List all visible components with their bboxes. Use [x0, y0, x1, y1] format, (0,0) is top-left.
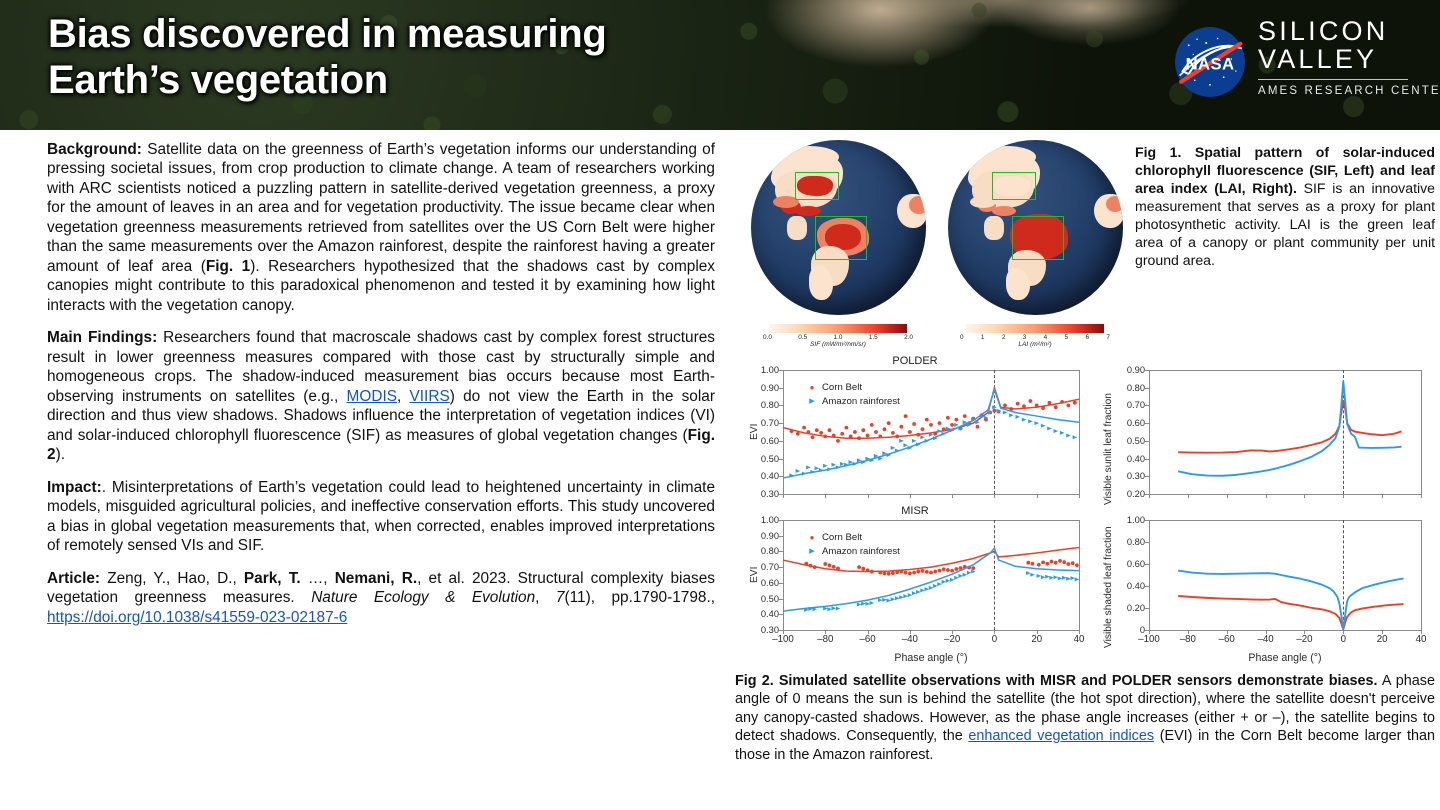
- data-point: [1075, 577, 1080, 581]
- data-point: [866, 568, 870, 572]
- data-point: [813, 565, 817, 569]
- series-line: [1178, 401, 1401, 453]
- data-point: [823, 435, 827, 439]
- x-axis-tick-label: 0: [992, 634, 997, 645]
- legend-label: Corn Belt: [822, 532, 862, 543]
- data-point: [866, 434, 870, 438]
- legend-item: ●Corn Belt: [807, 532, 900, 543]
- tick: 0.0: [763, 334, 772, 341]
- nasa-meatball-icon: NASA: [1172, 24, 1248, 100]
- data-point: [1041, 575, 1046, 579]
- data-point: [790, 429, 794, 433]
- globe-lai-sphere: [948, 140, 1123, 315]
- article-a3: …,: [301, 570, 335, 587]
- background-figref: Fig. 1: [206, 258, 250, 275]
- data-point: [865, 602, 870, 606]
- data-point: [900, 425, 904, 429]
- x-axis-label: Phase angle (°): [783, 652, 1079, 664]
- chart-polder-evi: POLDER1.000.900.800.700.600.500.400.30EV…: [741, 354, 1089, 504]
- data-point: [904, 414, 908, 418]
- data-point: [1067, 404, 1071, 408]
- y-axis-tick-label: 0.60: [761, 578, 779, 588]
- data-point: [1060, 400, 1064, 404]
- x-axis-tick: [952, 494, 953, 498]
- data-point: [925, 570, 929, 574]
- globe-sif: 0.0 0.5 1.0 1.5 2.0 SIF (mW/m²/nm/sr): [743, 140, 933, 350]
- colorbar-sif: 0.0 0.5 1.0 1.5 2.0 SIF (mW/m²/nm/sr): [743, 324, 933, 348]
- data-point: [882, 598, 887, 602]
- data-point: [946, 568, 950, 572]
- data-point: [1016, 415, 1021, 419]
- data-point: [1073, 435, 1078, 439]
- data-point: [912, 422, 916, 426]
- data-point: [929, 586, 934, 590]
- data-point: [963, 573, 968, 577]
- colorbar-sif-ticks: 0.0 0.5 1.0 1.5 2.0: [763, 334, 913, 341]
- data-point: [1037, 563, 1041, 567]
- impact-lead: Impact:: [47, 479, 102, 496]
- data-point: [920, 588, 925, 592]
- paragraph-impact: Impact:. Misinterpretations of Earth’s v…: [47, 478, 715, 556]
- data-point: [827, 607, 832, 611]
- amazon-box-lai: [1012, 216, 1064, 260]
- data-point: [1022, 404, 1026, 408]
- colorbar-sif-gradient: [769, 324, 907, 333]
- findings-sep: ,: [397, 388, 410, 405]
- data-point: [802, 426, 806, 430]
- data-point: [827, 467, 832, 471]
- page-title-line1: Bias discovered in measuring: [48, 12, 808, 58]
- data-point: [857, 565, 861, 569]
- data-point: [946, 579, 951, 583]
- data-point: [1062, 560, 1066, 564]
- data-point: [1037, 574, 1042, 578]
- data-point: [1049, 576, 1054, 580]
- data-point: [900, 570, 904, 574]
- plot-area: 1.000.800.600.400.200–100–80–60–40–20020…: [1149, 520, 1421, 630]
- data-point: [933, 584, 938, 588]
- data-point: [992, 405, 997, 409]
- series-line: [1178, 381, 1401, 475]
- figure-2-charts: POLDER1.000.900.800.700.600.500.400.30EV…: [735, 354, 1435, 674]
- data-point: [1003, 404, 1007, 408]
- tick: 1.5: [869, 334, 878, 341]
- data-point: [891, 597, 896, 601]
- data-point: [802, 472, 807, 476]
- data-point: [993, 409, 997, 413]
- data-point: [887, 421, 891, 425]
- data-point: [1054, 429, 1059, 433]
- colorbar-lai: 0 1 2 3 4 5 6 7 LAI (m²/m²): [940, 324, 1130, 348]
- data-point: [929, 571, 933, 575]
- y-axis-tick-label: 0.30: [761, 489, 779, 499]
- x-axis-tick-label: –60: [1219, 634, 1235, 645]
- data-point: [832, 434, 836, 438]
- y-axis-tick-label: 0.90: [1127, 365, 1145, 375]
- x-axis-tick: [1382, 494, 1383, 498]
- y-axis-tick-label: 0.70: [761, 418, 779, 428]
- data-point: [895, 435, 899, 439]
- data-point: [912, 439, 917, 443]
- y-axis-tick-label: 0.80: [1127, 537, 1145, 547]
- y-axis-tick-label: 0.20: [1127, 489, 1145, 499]
- data-point: [1054, 575, 1059, 579]
- figure-2-caption: Fig 2. Simulated satellite observations …: [735, 672, 1435, 764]
- axis-line: [783, 494, 1079, 495]
- data-point: [828, 563, 832, 567]
- data-point: [942, 580, 947, 584]
- tick: 0.5: [798, 334, 807, 341]
- data-point: [937, 582, 942, 586]
- article-author-park: Park, T.: [244, 570, 301, 587]
- chart-misr-evi: MISR1.000.900.800.700.600.500.400.30–100…: [741, 504, 1089, 674]
- data-point: [916, 433, 920, 437]
- findings-text3: ).: [56, 446, 65, 463]
- data-point: [903, 594, 908, 598]
- data-point: [887, 572, 891, 576]
- data-point: [904, 571, 908, 575]
- figures-column: 0.0 0.5 1.0 1.5 2.0 SIF (mW/m²/nm/sr): [735, 140, 1435, 674]
- y-axis-tick-label: 0.50: [761, 454, 779, 464]
- y-axis-tick-label: 0.70: [1127, 400, 1145, 410]
- data-point: [954, 576, 959, 580]
- data-point: [1066, 434, 1071, 438]
- chart-legend: ●Corn Belt▸Amazon rainforest: [807, 532, 900, 560]
- amazon-box-sif: [815, 216, 867, 260]
- data-point: [796, 432, 800, 436]
- x-axis-tick-label: –100: [772, 634, 794, 645]
- logo-line-2: VALLEY: [1258, 46, 1412, 74]
- data-point: [810, 470, 815, 474]
- legend-item: ▸Amazon rainforest: [807, 396, 900, 407]
- data-point: [908, 430, 912, 434]
- x-axis-tick-label: –80: [817, 634, 833, 645]
- data-point: [933, 570, 937, 574]
- data-point: [1035, 404, 1039, 408]
- chart-title: MISR: [741, 504, 1089, 518]
- data-point: [878, 435, 882, 439]
- data-point: [806, 465, 811, 469]
- data-point: [938, 569, 942, 573]
- data-point: [958, 574, 963, 578]
- link-doi[interactable]: https://doi.org/10.1038/s41559-023-02187…: [47, 609, 347, 626]
- data-point: [1071, 576, 1076, 580]
- data-point: [815, 428, 819, 432]
- legend-marker-icon: ▸: [807, 396, 817, 407]
- data-point: [1030, 573, 1035, 577]
- data-point: [929, 423, 933, 427]
- article-a7: (11), pp.1790-1798.,: [564, 589, 715, 606]
- data-point: [823, 464, 828, 468]
- impact-text: . Misinterpretations of Earth’s vegetati…: [47, 479, 715, 554]
- article-lead: Article:: [47, 570, 100, 587]
- data-point: [836, 465, 841, 469]
- data-point: [804, 562, 808, 566]
- y-axis-label: Visible sunlit leaf fraction: [1103, 393, 1114, 505]
- data-point: [921, 427, 925, 431]
- x-axis-tick-label: 20: [1377, 634, 1388, 645]
- data-point: [853, 430, 857, 434]
- data-point: [971, 570, 976, 574]
- y-axis-tick-label: 0.30: [1127, 471, 1145, 481]
- y-axis-tick-label: 0.60: [761, 436, 779, 446]
- legend-marker-icon: ●: [807, 534, 817, 542]
- axis-line: [1079, 370, 1080, 494]
- legend-label: Amazon rainforest: [822, 546, 900, 557]
- x-axis-tick: [1079, 494, 1080, 498]
- y-axis-tick-label: 0.60: [1127, 418, 1145, 428]
- figure-1: 0.0 0.5 1.0 1.5 2.0 SIF (mW/m²/nm/sr): [735, 140, 1435, 350]
- x-axis-tick: [1421, 494, 1422, 498]
- data-point: [836, 567, 840, 571]
- logo-line-1: SILICON: [1258, 18, 1412, 46]
- data-point: [832, 606, 837, 610]
- data-point: [908, 593, 913, 597]
- data-point: [891, 571, 895, 575]
- legend-label: Corn Belt: [822, 382, 862, 393]
- data-point: [849, 435, 853, 439]
- data-point: [925, 418, 929, 422]
- data-point: [1009, 413, 1014, 417]
- data-point: [823, 562, 827, 566]
- data-point: [912, 571, 916, 575]
- data-point: [1041, 406, 1045, 410]
- y-axis-tick-label: 0.40: [761, 609, 779, 619]
- data-point: [1026, 561, 1030, 565]
- data-point: [807, 430, 811, 434]
- corn-belt-box-lai: [992, 172, 1036, 200]
- data-point: [1058, 577, 1063, 581]
- data-point: [815, 466, 820, 470]
- data-point: [920, 435, 925, 439]
- data-point: [1060, 431, 1065, 435]
- data-point: [840, 432, 844, 436]
- data-point: [1041, 561, 1045, 565]
- series-line: [1178, 596, 1403, 630]
- legend-label: Amazon rainforest: [822, 396, 900, 407]
- data-point: [861, 567, 865, 571]
- poster-page: Bias discovered in measuring Earth’s veg…: [0, 0, 1440, 810]
- axis-line: [1079, 520, 1080, 630]
- chart-shaded-leaf-fraction: 1.000.800.600.400.200–100–80–60–40–20020…: [1091, 504, 1435, 674]
- colorbar-lai-label: LAI (m²/m²): [940, 341, 1130, 348]
- silicon-valley-wordmark: SILICON VALLEY AMES RESEARCH CENTER: [1258, 18, 1412, 97]
- data-point: [950, 423, 954, 427]
- data-point: [955, 418, 959, 422]
- background-text: Satellite data on the greenness of Earth…: [47, 141, 715, 275]
- data-point: [1028, 419, 1033, 423]
- x-axis-tick-label: –40: [1257, 634, 1273, 645]
- data-point: [857, 436, 861, 440]
- data-point: [891, 431, 895, 435]
- data-point: [916, 570, 920, 574]
- data-point: [908, 572, 912, 576]
- colorbar-lai-ticks: 0 1 2 3 4 5 6 7: [960, 334, 1110, 341]
- data-point: [1016, 402, 1020, 406]
- y-axis-tick-label: 0.20: [1127, 603, 1145, 613]
- tick: 0: [960, 334, 964, 341]
- data-point: [832, 565, 836, 569]
- paragraph-article-citation: Article: Zeng, Y., Hao, D., Park, T. …, …: [47, 569, 715, 627]
- data-point: [840, 462, 845, 466]
- tick: 5: [1065, 334, 1069, 341]
- data-point: [954, 423, 959, 427]
- axis-line: [1149, 494, 1421, 495]
- data-point: [1045, 562, 1049, 566]
- data-point: [832, 463, 837, 467]
- legend-item: ●Corn Belt: [807, 382, 900, 393]
- article-a1: Zeng, Y., Hao, D.,: [100, 570, 244, 587]
- logo-subtitle: AMES RESEARCH CENTER: [1258, 85, 1412, 97]
- tick: 2: [1002, 334, 1006, 341]
- data-point: [1026, 571, 1031, 575]
- chart-sunlit-leaf-fraction: 0.900.800.700.600.500.400.300.20Visible …: [1091, 354, 1435, 504]
- data-point: [942, 567, 946, 571]
- data-point: [1054, 405, 1058, 409]
- data-point: [1054, 561, 1058, 565]
- data-point: [950, 578, 955, 582]
- data-point: [1071, 561, 1075, 565]
- x-axis-tick: [1343, 494, 1344, 498]
- data-point: [1073, 401, 1077, 405]
- data-point: [1058, 559, 1062, 563]
- data-point: [887, 599, 892, 603]
- page-title-line2: Earth’s vegetation: [48, 58, 808, 104]
- data-point: [1041, 424, 1046, 428]
- data-point: [1035, 421, 1040, 425]
- data-point: [828, 428, 832, 432]
- axis-line: [783, 630, 1079, 631]
- y-axis-label: Visible shaded leaf fraction: [1103, 526, 1114, 648]
- background-lead: Background:: [47, 141, 142, 158]
- tick: 7: [1106, 334, 1110, 341]
- plot-area: 0.900.800.700.600.500.400.300.20: [1149, 370, 1421, 494]
- y-axis-label: EVI: [749, 423, 760, 439]
- data-point: [967, 571, 972, 575]
- legend-item: ▸Amazon rainforest: [807, 546, 900, 557]
- figure-1-caption: Fig 1. Spatial pattern of solar-induced …: [1135, 144, 1435, 270]
- x-axis-tick: [1149, 494, 1150, 498]
- series-line: [1178, 571, 1403, 629]
- axis-line: [1149, 630, 1421, 631]
- data-point: [1031, 562, 1035, 566]
- data-point: [895, 596, 900, 600]
- data-point: [1067, 562, 1071, 566]
- article-journal: Nature Ecology & Evolution: [311, 589, 535, 606]
- y-axis-tick-label: 1.00: [1127, 515, 1145, 525]
- paragraph-background: Background: Satellite data on the greenn…: [47, 140, 715, 315]
- data-point: [809, 564, 813, 568]
- x-axis-tick: [1037, 494, 1038, 498]
- header-banner: Bias discovered in measuring Earth’s veg…: [0, 0, 1440, 130]
- fig2-caption-bold: Fig 2. Simulated satellite observations …: [735, 673, 1378, 689]
- data-point: [938, 421, 942, 425]
- article-a6: ,: [535, 589, 556, 606]
- data-point: [921, 569, 925, 573]
- data-point: [874, 430, 878, 434]
- link-enhanced-vegetation-indices[interactable]: enhanced vegetation indices: [968, 728, 1154, 744]
- data-point: [857, 603, 862, 607]
- tick: 4: [1044, 334, 1048, 341]
- data-point: [1022, 418, 1027, 422]
- y-axis-tick-label: 0.40: [761, 471, 779, 481]
- data-point: [1047, 427, 1052, 431]
- link-viirs[interactable]: VIIRS: [410, 388, 450, 405]
- data-point: [976, 425, 980, 429]
- globe-sif-sphere: [751, 140, 926, 315]
- article-author-nemani: Nemani, R.: [335, 570, 417, 587]
- data-point: [845, 426, 849, 430]
- paragraph-main-findings: Main Findings: Researchers found that ma…: [47, 328, 715, 464]
- data-point: [878, 598, 883, 602]
- y-axis-tick-label: 0.70: [761, 562, 779, 572]
- data-point: [878, 571, 882, 575]
- x-axis-label: Phase angle (°): [1149, 652, 1421, 664]
- y-axis-tick-label: 0.80: [1127, 383, 1145, 393]
- data-point: [933, 432, 937, 436]
- data-point: [796, 469, 801, 473]
- legend-marker-icon: ▸: [807, 546, 817, 557]
- data-point: [1075, 563, 1079, 567]
- x-axis-tick-label: –20: [944, 634, 960, 645]
- x-axis-tick: [825, 494, 826, 498]
- x-axis-tick-label: 20: [1031, 634, 1042, 645]
- data-point: [891, 446, 896, 450]
- x-axis-tick-label: 40: [1416, 634, 1427, 645]
- x-axis-tick: [1304, 494, 1305, 498]
- data-point: [950, 569, 954, 573]
- data-point: [1003, 411, 1008, 415]
- x-axis-tick-label: –40: [902, 634, 918, 645]
- x-axis-tick: [783, 494, 784, 498]
- x-axis-tick-label: 40: [1074, 634, 1085, 645]
- y-axis-tick-label: 1.00: [761, 365, 779, 375]
- data-point: [870, 601, 875, 605]
- data-layer: [1149, 520, 1421, 630]
- x-axis-tick-label: 0: [1341, 634, 1346, 645]
- y-axis-label: EVI: [749, 566, 760, 582]
- tick: 1.0: [834, 334, 843, 341]
- y-axis-tick-label: 0.60: [1127, 559, 1145, 569]
- x-axis-tick-label: –100: [1138, 634, 1160, 645]
- tick: 6: [1085, 334, 1089, 341]
- x-axis-tick: [1188, 494, 1189, 498]
- data-point: [836, 607, 841, 611]
- data-point: [819, 431, 823, 435]
- data-point: [883, 427, 887, 431]
- data-point: [1045, 575, 1050, 579]
- data-point: [883, 572, 887, 576]
- data-point: [955, 567, 959, 571]
- data-point: [1029, 399, 1033, 403]
- data-point: [870, 423, 874, 427]
- data-point: [1062, 576, 1067, 580]
- data-point: [946, 416, 950, 420]
- article-body: Background: Satellite data on the greenn…: [47, 140, 715, 627]
- nasa-ames-logo: NASA SILICON VALLEY AMES RESEARCH CENTER: [1172, 18, 1412, 114]
- tick: 3: [1023, 334, 1027, 341]
- corn-belt-box-sif: [795, 172, 839, 200]
- y-axis-tick-label: 0.90: [761, 531, 779, 541]
- y-axis-tick-label: 0.40: [1127, 581, 1145, 591]
- data-point: [899, 439, 904, 443]
- axis-line: [1421, 370, 1422, 494]
- chart-legend: ●Corn Belt▸Amazon rainforest: [807, 382, 900, 410]
- link-modis[interactable]: MODIS: [347, 388, 397, 405]
- x-axis-tick-label: –60: [859, 634, 875, 645]
- logo-divider: [1258, 79, 1408, 80]
- tick: 1: [981, 334, 985, 341]
